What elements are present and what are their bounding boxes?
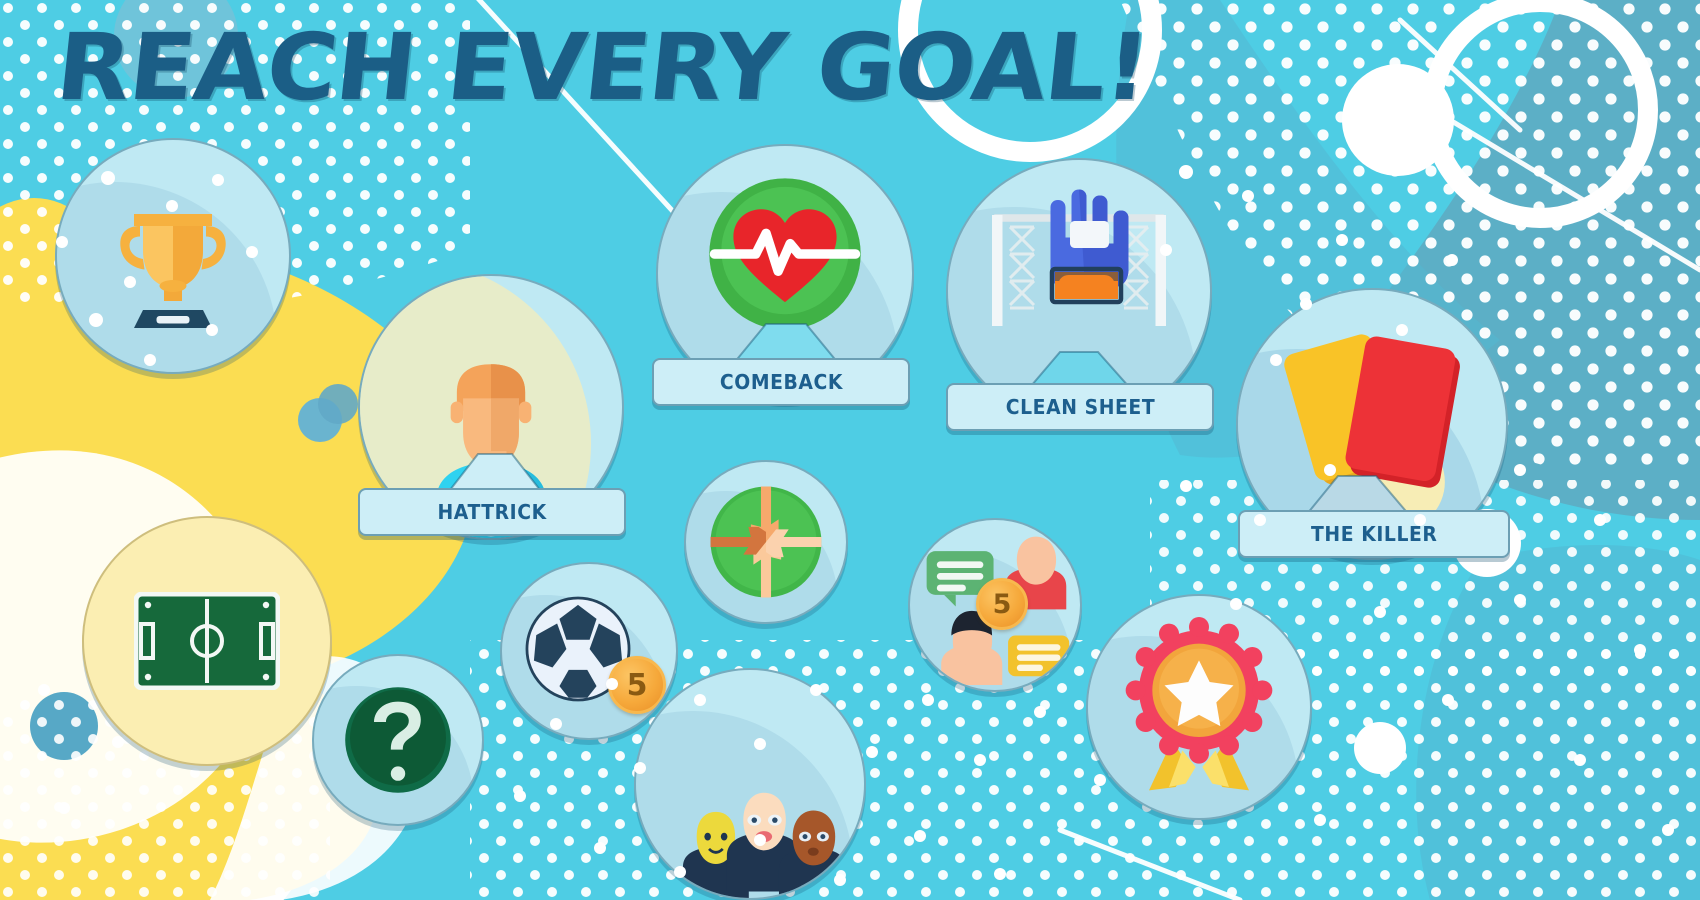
people-group-icon (636, 670, 864, 898)
page-title: REACH EVERY GOAL! (52, 22, 1152, 114)
soccer-pitch-icon (84, 518, 330, 764)
yellow-chat-bubble (1008, 636, 1069, 677)
ribbon-clean-sheet: CLEAN SHEET (946, 383, 1214, 431)
bubble-trophy[interactable] (55, 138, 291, 374)
trophy-icon (57, 140, 289, 372)
banner-canvas: REACH EVERY GOAL! (0, 0, 1700, 900)
ribbon-the-killer: THE KILLER (1238, 510, 1510, 558)
badge-label: THE KILLER (1311, 522, 1437, 546)
bubble-award[interactable] (1086, 594, 1312, 820)
question-mark-icon (314, 656, 482, 824)
bubble-squad[interactable] (634, 668, 866, 900)
counter-value: 5 (993, 589, 1012, 620)
badge-label: HATTRICK (437, 500, 546, 524)
badge-label: COMEBACK (719, 370, 842, 394)
ribbon-hattrick: HATTRICK (358, 488, 626, 536)
bubble-five-messages[interactable]: 5 (908, 518, 1082, 692)
award-rosette-icon (1088, 596, 1310, 818)
bubble-teamwork[interactable] (684, 460, 848, 624)
badge-label: CLEAN SHEET (1005, 395, 1154, 419)
hands-together-icon (686, 462, 846, 622)
bubble-pitch[interactable] (82, 516, 332, 766)
counter-coin-five-messages: 5 (976, 578, 1028, 630)
ribbon-comeback: COMEBACK (652, 358, 910, 406)
bubble-mystery[interactable] (312, 654, 484, 826)
